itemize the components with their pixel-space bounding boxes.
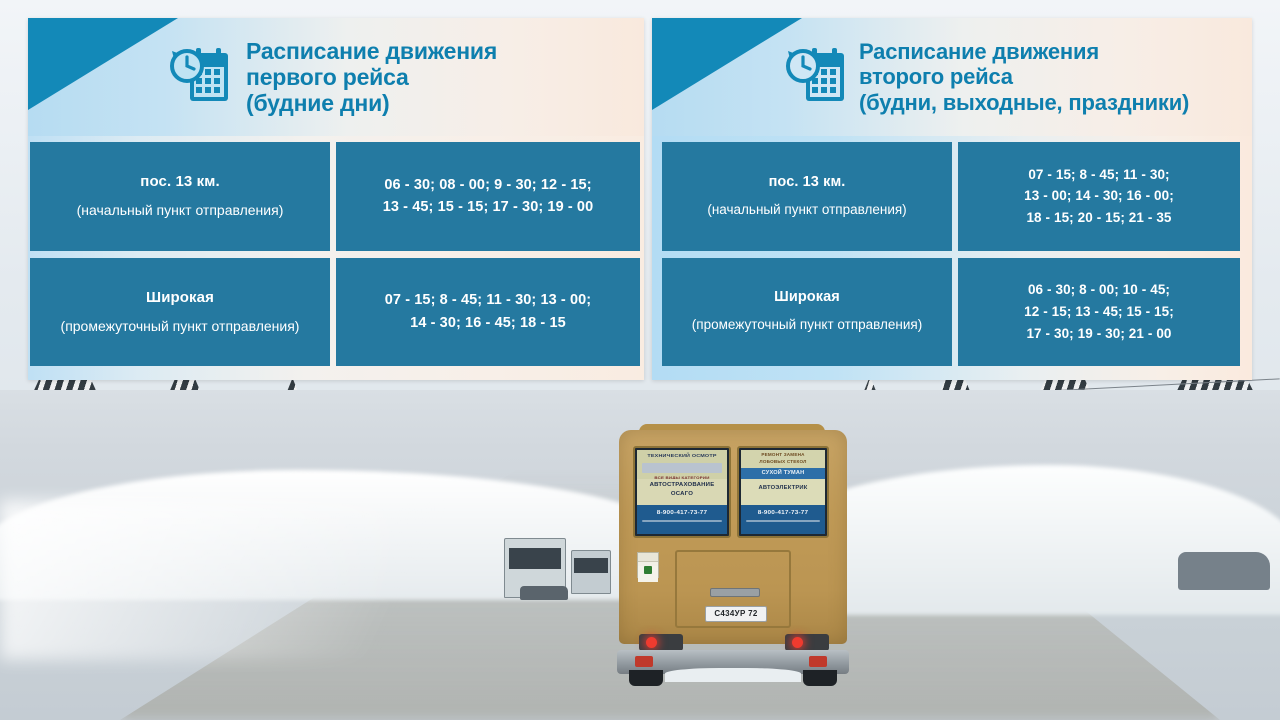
bus-window-right: РЕМОНТ ЗАМЕНА ЛОБОВЫХ СТЕКОЛ СУХОЙ ТУМАН… [737,446,829,538]
taillight-right [785,634,829,651]
title-line-1: Расписание движения [246,38,497,64]
bus-undercarriage [665,668,801,682]
stop-note: (начальный пункт отправления) [77,202,284,220]
title-line-2: второго рейса [859,64,1189,89]
bus-window-left: ТЕХНИЧЕСКИЙ ОСМОТР ВСЕ ВИДЫ КАТЕГОРИИ АВ… [633,446,731,538]
ad-right-line1: РЕМОНТ ЗАМЕНА [741,452,825,457]
calendar-clock-icon [784,45,848,109]
title-line-2: первого рейса [246,64,497,90]
table-row: Широкая (промежуточный пункт отправления… [662,258,1240,367]
table-row: пос. 13 км. (начальный пункт отправления… [662,142,1240,251]
corner-triangle-decoration [652,18,802,110]
stop-name: Широкая [774,289,840,305]
stop-note: (промежуточный пункт отправления) [692,317,922,334]
wheel-left [629,670,663,686]
panel-title: Расписание движения второго рейса (будни… [859,39,1189,114]
ad-right-line3: СУХОЙ ТУМАН [741,470,825,475]
panel-header: Расписание движения второго рейса (будни… [652,18,1252,136]
bus-handle [710,588,760,597]
departure-times: 07 - 15; 8 - 45; 11 - 30; 13 - 00; 14 - … [385,289,592,334]
parked-car [1178,552,1270,590]
times-cell: 07 - 15; 8 - 45; 11 - 30; 13 - 00; 14 - … [336,258,640,367]
road-edge-left [0,500,560,660]
license-plate: С434УР 72 [705,606,767,622]
times-cell: 07 - 15; 8 - 45; 11 - 30; 13 - 00; 14 - … [958,142,1240,251]
schedule-table: пос. 13 км. (начальный пункт отправления… [28,136,644,380]
title-line-3: (будние дни) [246,90,497,116]
stop-name: пос. 13 км. [769,174,846,190]
schedule-panel-second-trip: Расписание движения второго рейса (будни… [652,18,1252,380]
ad-left-line3: АВТОСТРАХОВАНИЕ [637,482,727,487]
stop-cell: пос. 13 км. (начальный пункт отправления… [662,142,952,251]
panel-header: Расписание движения первого рейса (будни… [28,18,644,136]
schedule-table: пос. 13 км. (начальный пункт отправления… [652,136,1252,380]
taillight-left [639,634,683,651]
schedule-panel-first-trip: Расписание движения первого рейса (будни… [28,18,644,380]
wheel-right [803,670,837,686]
ad-left-line1: ТЕХНИЧЕСКИЙ ОСМОТР [637,453,727,458]
stop-name: пос. 13 км. [140,173,219,190]
title-line-3: (будни, выходные, праздники) [859,90,1189,115]
departure-times: 06 - 30; 08 - 00; 9 - 30; 12 - 15; 13 - … [383,174,594,219]
bumper-reflector-left [635,656,653,667]
table-row: Широкая (промежуточный пункт отправления… [30,258,640,367]
ad-right-line2: ЛОБОВЫХ СТЕКОЛ [741,459,825,464]
stop-cell: пос. 13 км. (начальный пункт отправления… [30,142,330,251]
departure-times: 07 - 15; 8 - 45; 11 - 30; 13 - 00; 14 - … [1024,164,1174,229]
distant-car [520,586,568,600]
ad-left-line4: ОСАГО [637,491,727,496]
stop-note: (промежуточный пункт отправления) [61,318,300,336]
calendar-clock-icon [168,45,232,109]
bumper-reflector-right [809,656,827,667]
advertisement-left: ТЕХНИЧЕСКИЙ ОСМОТР ВСЕ ВИДЫ КАТЕГОРИИ АВ… [637,450,727,534]
panel-title: Расписание движения первого рейса (будни… [246,38,497,117]
oncoming-bus-2 [571,550,611,594]
stop-note: (начальный пункт отправления) [707,202,906,219]
ad-right-line4: АВТОЭЛЕКТРИК [741,485,825,490]
corner-triangle-decoration [28,18,178,110]
departure-times: 06 - 30; 8 - 00; 10 - 45; 12 - 15; 13 - … [1024,279,1174,344]
stop-cell: Широкая (промежуточный пункт отправления… [662,258,952,367]
times-cell: 06 - 30; 8 - 00; 10 - 45; 12 - 15; 13 - … [958,258,1240,367]
advertisement-right: РЕМОНТ ЗАМЕНА ЛОБОВЫХ СТЕКОЛ СУХОЙ ТУМАН… [741,450,825,534]
table-row: пос. 13 км. (начальный пункт отправления… [30,142,640,251]
bus-rear-view: ТЕХНИЧЕСКИЙ ОСМОТР ВСЕ ВИДЫ КАТЕГОРИИ АВ… [613,424,853,686]
stop-name: Широкая [146,289,214,306]
bus-sticker [637,552,659,578]
stop-cell: Широкая (промежуточный пункт отправления… [30,258,330,367]
ad-right-phone: 8-900-417-73-77 [741,510,825,516]
ad-left-phone: 8-900-417-73-77 [637,510,727,516]
title-line-1: Расписание движения [859,39,1189,64]
times-cell: 06 - 30; 08 - 00; 9 - 30; 12 - 15; 13 - … [336,142,640,251]
